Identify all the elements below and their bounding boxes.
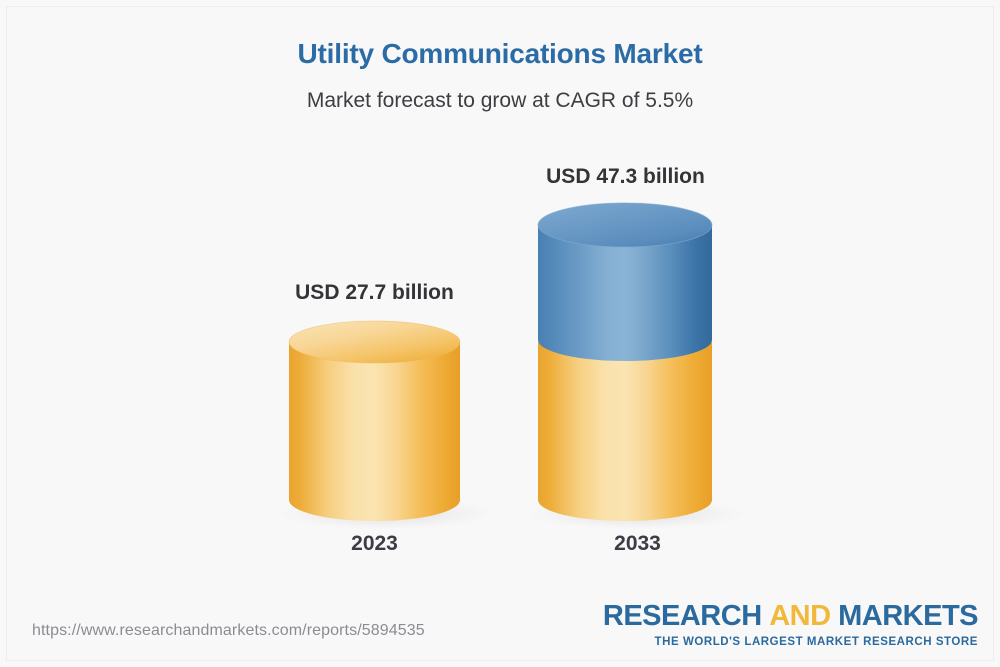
category-label-2033: 2033 [512,532,763,556]
chart-plot-area: USD 27.7 billion USD 47.3 billion 2023 2… [0,0,1000,600]
bar-2023-body [289,342,460,521]
logo-tagline: THE WORLD'S LARGEST MARKET RESEARCH STOR… [603,636,978,648]
source-url-link[interactable]: https://www.researchandmarkets.com/repor… [32,622,425,640]
bar-cylinder-2023 [289,321,460,521]
logo-word-markets: MARKETS [838,600,978,632]
cylinder-bar-chart-svg [0,0,1000,600]
category-label-2023: 2023 [249,532,500,556]
research-and-markets-logo[interactable]: RESEARCH AND MARKETS THE WORLD'S LARGEST… [603,602,978,648]
logo-wordmark: RESEARCH AND MARKETS [603,602,978,631]
bar-cylinder-2033 [538,203,712,521]
infographic-canvas: Utility Communications Market Market for… [0,0,1000,667]
logo-word-and: AND [769,600,830,632]
value-label-2023: USD 27.7 billion [249,281,500,305]
value-label-2033: USD 47.3 billion [500,165,751,189]
logo-word-research: RESEARCH [603,600,762,632]
bar-2033-base-segment [538,342,712,521]
